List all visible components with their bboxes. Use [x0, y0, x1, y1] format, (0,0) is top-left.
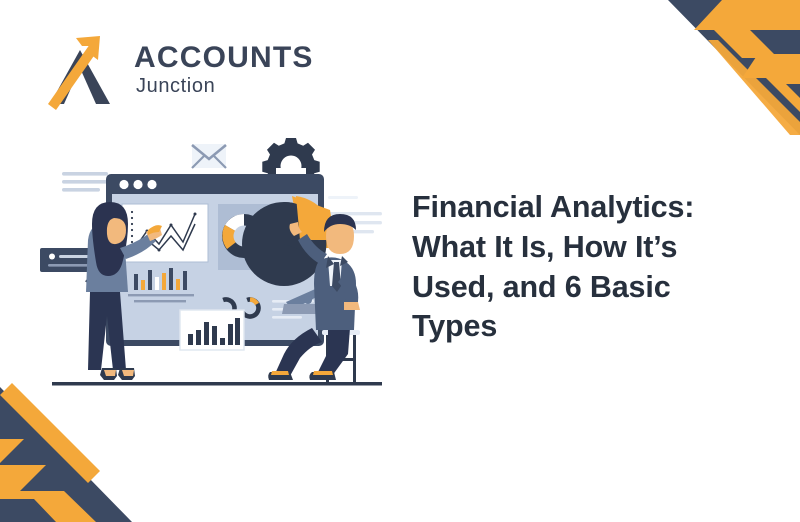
financial-analytics-dashboard-illustration [28, 132, 396, 400]
logo-line-accounts: ACCOUNTS [134, 42, 314, 74]
page-title-line-2: What It Is, How It’s [412, 228, 768, 268]
page-title-line-3: Used, and 6 Basic [412, 268, 768, 308]
poster-canvas: ACCOUNTS Junction Financial Analytics: W… [0, 0, 800, 522]
page-title-line-4: Types [412, 307, 768, 347]
bar-chart-card [180, 310, 244, 350]
corner-chevron-decoration-top-right [590, 0, 800, 135]
page-title: Financial Analytics: What It Is, How It’… [412, 188, 768, 347]
logo-line-junction: Junction [136, 75, 314, 97]
logo-wordmark: ACCOUNTS Junction [134, 42, 314, 97]
floor-line [52, 382, 382, 386]
envelope-icon [192, 144, 226, 168]
accounts-junction-logo[interactable]: ACCOUNTS Junction [38, 32, 318, 120]
triangle-arrow-growth-icon [38, 34, 124, 112]
page-title-line-1: Financial Analytics: [412, 188, 768, 228]
